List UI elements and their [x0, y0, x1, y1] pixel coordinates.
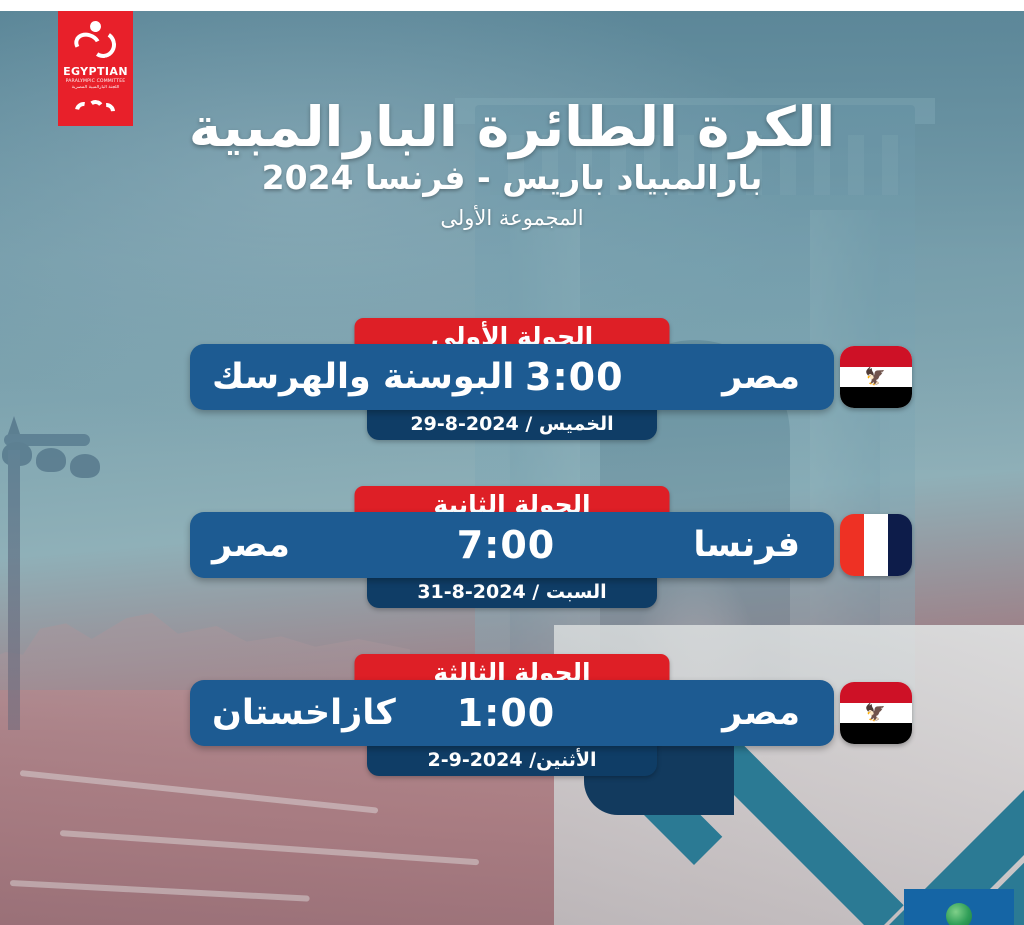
logo-name: EGYPTIAN [63, 66, 128, 77]
home-team-name: مصر [634, 357, 834, 397]
agitos-icon [74, 100, 118, 120]
match-time: 1:00 [446, 691, 566, 735]
flag-france-icon [840, 514, 912, 576]
logo-subtitle-ar: اللجنة البارالمبية المصرية [72, 85, 120, 91]
away-team-name: البوسنة والهرسك [190, 357, 514, 397]
fixture-bar: فرنسا 7:00 مصر [190, 512, 834, 578]
home-team-name: فرنسا [566, 525, 834, 565]
away-team-name: مصر [190, 525, 446, 565]
fixture-bar: مصر 3:00 البوسنة والهرسك [190, 344, 834, 410]
header-block: الكرة الطائرة البارالمبية بارالمبياد بار… [0, 98, 1024, 230]
egyptian-paralympic-committee-logo: EGYPTIAN PARALYMPIC COMMITTEE اللجنة الب… [58, 11, 133, 126]
match-time: 3:00 [514, 355, 634, 399]
poster-root: EGYPTIAN PARALYMPIC COMMITTEE اللجنة الب… [0, 0, 1024, 925]
globe-badge [904, 889, 1014, 925]
globe-icon [946, 903, 972, 925]
match-list: الجولة الأولى الخميس / 2024-8-29 مصر 3:0… [0, 318, 1024, 822]
page-title: الكرة الطائرة البارالمبية [0, 98, 1024, 156]
paralympic-swoosh-icon [72, 20, 120, 62]
page-subtitle: بارالمبياد باريس - فرنسا 2024 [0, 158, 1024, 198]
fixture-bar: مصر 1:00 كازاخستان [190, 680, 834, 746]
match-row: الجولة الثالثة الأثنين/ 2024-9-2 مصر 1:0… [0, 654, 1024, 802]
group-label: المجموعة الأولى [0, 206, 1024, 230]
match-row: الجولة الثانية السبت / 2024-8-31 فرنسا 7… [0, 486, 1024, 634]
home-team-name: مصر [566, 693, 834, 733]
match-time: 7:00 [446, 523, 566, 567]
match-row: الجولة الأولى الخميس / 2024-8-29 مصر 3:0… [0, 318, 1024, 466]
flag-egypt-icon: 🦅 [840, 682, 912, 744]
top-white-strip [0, 0, 1024, 11]
away-team-name: كازاخستان [190, 693, 446, 733]
flag-egypt-icon: 🦅 [840, 346, 912, 408]
